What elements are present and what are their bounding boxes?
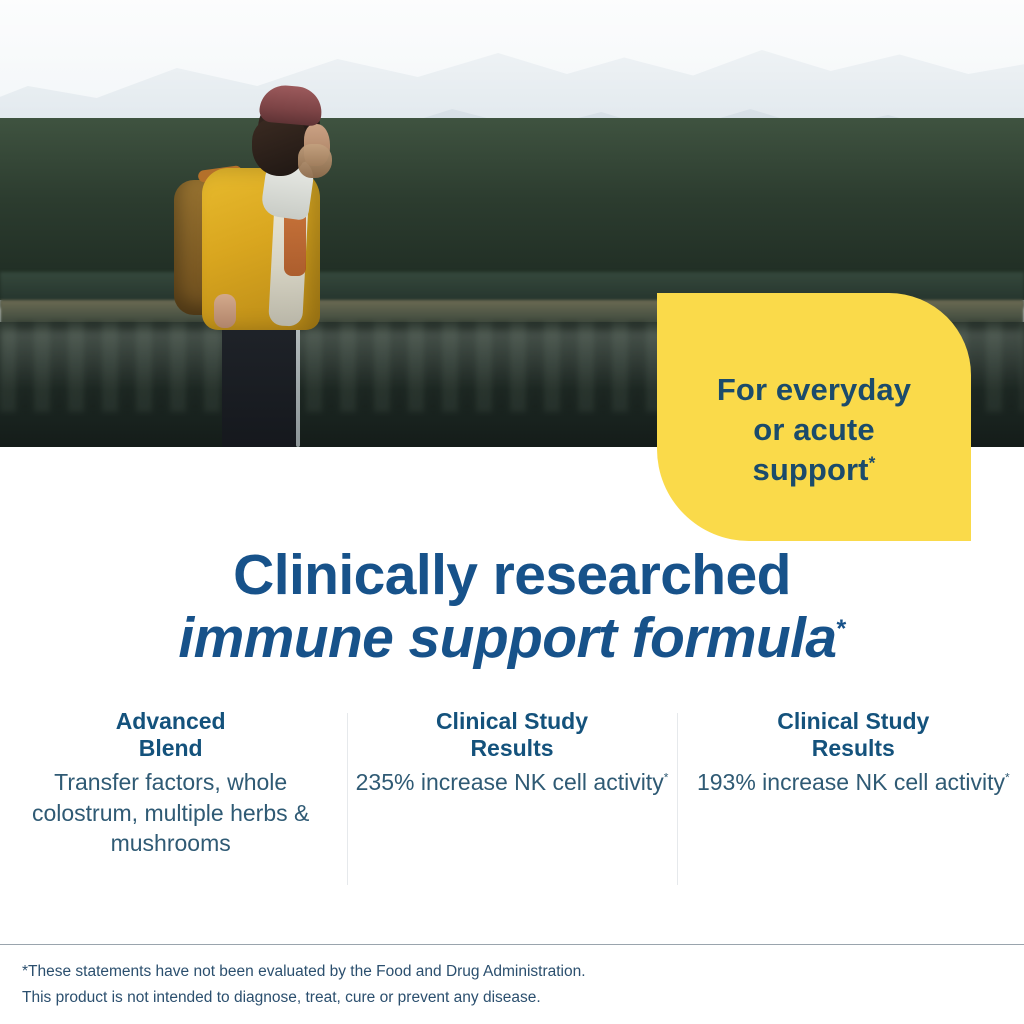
badge-line-1: For everyday xyxy=(717,372,911,407)
hiker-legs xyxy=(222,310,296,447)
column-body: 193% increase NK cell activity* xyxy=(697,767,1010,798)
column-title: Clinical Study Results xyxy=(355,708,668,762)
column-body-text: 235% increase NK cell activity xyxy=(356,769,664,795)
hiker-beard xyxy=(298,144,332,178)
marketing-banner: For everyday or acute support* Clinicall… xyxy=(0,0,1024,1024)
headline-line-1: Clinically researched xyxy=(0,545,1024,605)
column-body: 235% increase NK cell activity* xyxy=(355,767,668,798)
column-divider-1 xyxy=(347,713,348,885)
hiker-hand xyxy=(214,294,236,328)
badge-line-2: or acute xyxy=(753,412,874,447)
headline-line-2-text: immune support formula xyxy=(178,606,836,670)
column-body-text: Transfer factors, whole colostrum, multi… xyxy=(32,769,309,856)
hiker-figure xyxy=(160,72,370,447)
column-title-line-1: Advanced xyxy=(116,708,226,734)
feature-column-clinical-study-193: Clinical Study Results 193% increase NK … xyxy=(683,708,1024,798)
disclaimer-line-1: *These statements have not been evaluate… xyxy=(22,959,1024,984)
column-title-line-1: Clinical Study xyxy=(436,708,588,734)
column-title-line-2: Blend xyxy=(139,735,203,761)
page-title: Clinically researched immune support for… xyxy=(0,545,1024,671)
column-title-line-1: Clinical Study xyxy=(777,708,929,734)
column-title-line-2: Results xyxy=(812,735,895,761)
feature-columns: Advanced Blend Transfer factors, whole c… xyxy=(0,708,1024,923)
column-title-line-2: Results xyxy=(470,735,553,761)
column-asterisk: * xyxy=(1005,771,1010,785)
column-body: Transfer factors, whole colostrum, multi… xyxy=(14,767,327,859)
callout-badge: For everyday or acute support* xyxy=(657,293,971,541)
badge-line-3: support xyxy=(753,452,869,487)
disclaimer-line-2: This product is not intended to diagnose… xyxy=(22,985,1024,1010)
badge-asterisk: * xyxy=(869,453,876,473)
column-asterisk: * xyxy=(664,771,669,785)
maroon-beanie xyxy=(258,83,323,126)
column-title: Advanced Blend xyxy=(14,708,327,762)
feature-column-clinical-study-235: Clinical Study Results 235% increase NK … xyxy=(341,708,682,798)
disclaimer-footer: *These statements have not been evaluate… xyxy=(0,944,1024,1024)
callout-badge-text: For everyday or acute support* xyxy=(693,344,935,491)
headline-line-2: immune support formula* xyxy=(0,607,1024,671)
feature-column-advanced-blend: Advanced Blend Transfer factors, whole c… xyxy=(0,708,341,859)
column-title: Clinical Study Results xyxy=(697,708,1010,762)
column-body-text: 193% increase NK cell activity xyxy=(697,769,1005,795)
column-divider-2 xyxy=(677,713,678,885)
headline-asterisk: * xyxy=(837,615,846,643)
